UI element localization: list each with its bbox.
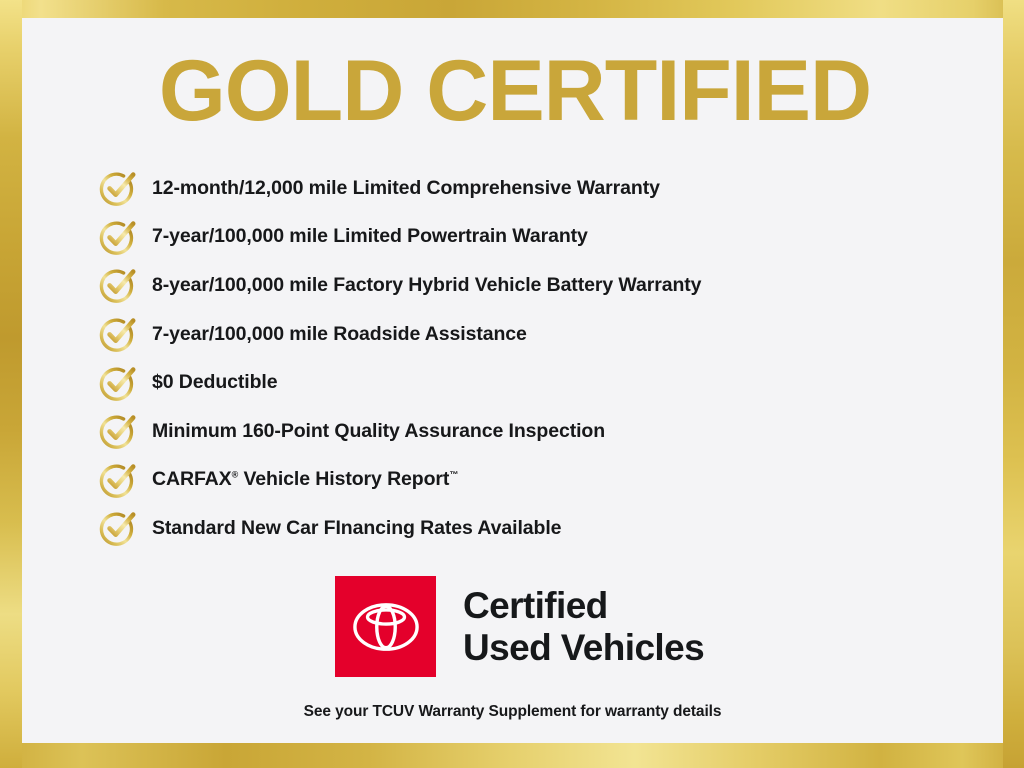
benefit-row: 7-year/100,000 mile Roadside Assistance	[98, 310, 998, 359]
benefits-list: 12-month/12,000 mile Limited Comprehensi…	[98, 164, 998, 553]
benefit-label: 8-year/100,000 mile Factory Hybrid Vehic…	[152, 274, 701, 297]
check-circle-icon	[98, 168, 138, 208]
benefit-label: $0 Deductible	[152, 371, 278, 394]
check-circle-icon	[98, 508, 138, 548]
toyota-emblem-icon	[335, 576, 436, 677]
benefit-row: 12-month/12,000 mile Limited Comprehensi…	[98, 164, 998, 213]
gold-border-bottom	[0, 743, 1024, 768]
benefit-row: CARFAX® Vehicle History Report™	[98, 456, 998, 505]
registered-mark: ®	[232, 470, 239, 480]
check-circle-icon	[98, 363, 138, 403]
benefit-row: 7-year/100,000 mile Limited Powertrain W…	[98, 213, 998, 262]
toyota-wordmark: Certified Used Vehicles	[463, 585, 704, 669]
benefit-row: Minimum 160-Point Quality Assurance Insp…	[98, 407, 998, 456]
check-circle-icon	[98, 460, 138, 500]
check-circle-icon	[98, 411, 138, 451]
gold-border-right	[1003, 0, 1024, 768]
toyota-certified-used-vehicles-logo: Certified Used Vehicles	[335, 576, 704, 677]
benefit-row: Standard New Car FInancing Rates Availab…	[98, 504, 998, 553]
certificate-frame: GOLD CERTIFIED 12-month/12,000 mile Limi…	[0, 0, 1024, 768]
toyota-wordmark-line2: Used Vehicles	[463, 627, 704, 669]
certificate-card: GOLD CERTIFIED 12-month/12,000 mile Limi…	[22, 18, 1003, 743]
gold-border-left	[0, 0, 22, 768]
benefit-label: 7-year/100,000 mile Roadside Assistance	[152, 323, 527, 346]
benefit-label: Minimum 160-Point Quality Assurance Insp…	[152, 420, 605, 443]
check-circle-icon	[98, 217, 138, 257]
benefit-row: 8-year/100,000 mile Factory Hybrid Vehic…	[98, 261, 998, 310]
benefit-label: 7-year/100,000 mile Limited Powertrain W…	[152, 225, 588, 248]
trademark-mark: ™	[449, 470, 458, 480]
check-circle-icon	[98, 265, 138, 305]
benefit-label: CARFAX® Vehicle History Report™	[152, 468, 458, 491]
footer-disclaimer: See your TCUV Warranty Supplement for wa…	[22, 703, 1003, 721]
toyota-wordmark-line1: Certified	[463, 585, 704, 627]
gold-border-top	[0, 0, 1024, 18]
page-title: GOLD CERTIFIED	[100, 48, 930, 134]
benefit-label: 12-month/12,000 mile Limited Comprehensi…	[152, 177, 660, 200]
check-circle-icon	[98, 314, 138, 354]
benefit-label: Standard New Car FInancing Rates Availab…	[152, 517, 561, 540]
benefit-row: $0 Deductible	[98, 358, 998, 407]
